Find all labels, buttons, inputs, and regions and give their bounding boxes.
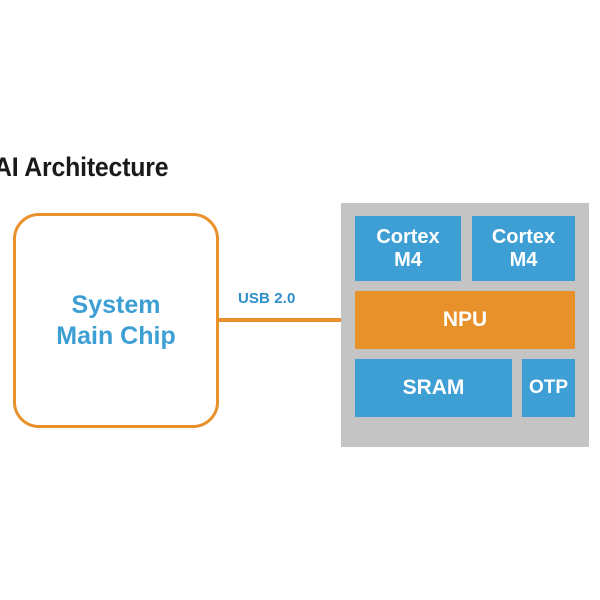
block-cortex-m4-0: Cortex M4 <box>355 216 461 281</box>
page-title: AI Architecture <box>0 152 168 182</box>
diagram-canvas: AI Architecture System Main Chip USB 2.0… <box>0 0 600 600</box>
usb-connector-line <box>217 318 345 322</box>
block-otp: OTP <box>522 359 575 417</box>
block-sram: SRAM <box>355 359 512 417</box>
block-npu: NPU <box>355 291 575 349</box>
soc-package-container: Cortex M4 Cortex M4 NPU SRAM OTP <box>341 203 589 447</box>
system-main-chip-label: System Main Chip <box>56 290 175 352</box>
usb-connector-label: USB 2.0 <box>238 290 295 307</box>
block-cortex-m4-1: Cortex M4 <box>472 216 575 281</box>
system-main-chip-box: System Main Chip <box>13 213 219 428</box>
